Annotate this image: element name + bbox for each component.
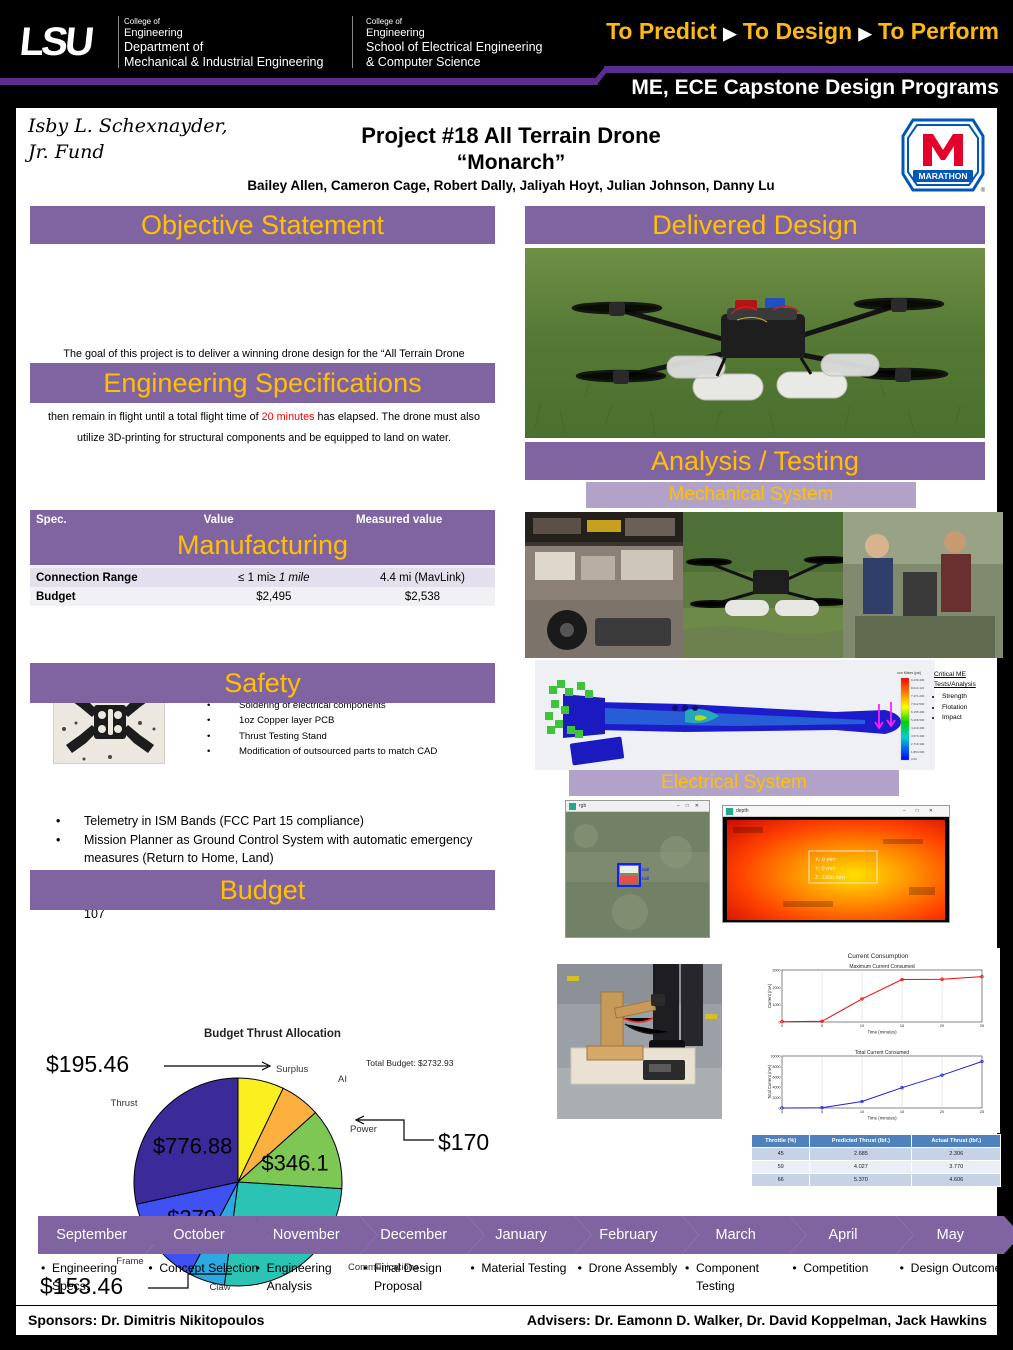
fea-analysis-image: von Mises (psi) 9,239.4008,214.121 7,471… [535,660,935,770]
subheader-electrical-system: Electrical System [569,770,899,796]
subheader-mechanical-system: Mechanical System [586,482,916,508]
svg-text:3,574.300: 3,574.300 [911,734,925,738]
table-cell: 66 [752,1174,810,1187]
pie-callout-ai: $170 [438,1129,489,1155]
critical-me-tests: Critical ME Tests/Analysis StrengthFlota… [934,670,1004,723]
column-header: Actual Thrust (lbf.) [912,1135,1001,1148]
timeline-month-label: May [937,1227,981,1243]
table-row: 594.0273.770 [752,1161,1001,1174]
dept2-line3: School of Electrical Engineering [366,40,543,55]
section-header-manufacturing: Manufacturing [30,525,495,565]
timeline-month-december: December [360,1216,484,1254]
spec-measured: $2,538 [350,587,495,606]
timeline-task-9: Design Outcome [911,1260,1010,1278]
timeline-task-1: Engineering Specs. [52,1260,151,1295]
author-list: Bailey Allen, Cameron Cage, Robert Dally… [166,178,856,193]
window-controls[interactable]: −□✕ [903,808,949,814]
critical-me-list: StrengthFlotationImpact [934,692,1004,723]
y-tick-label: 6000 [773,1075,781,1079]
table-cell: 2.685 [810,1148,912,1161]
tagline-design: To Design [743,18,852,44]
banner-rule-left [0,78,598,85]
table-cell: 5.370 [810,1174,912,1187]
svg-text:4,410.400: 4,410.400 [911,726,925,730]
y-tick-label: 2000 [773,986,781,990]
timeline-month-label: January [495,1227,564,1243]
list-item: Flotation [942,703,1004,713]
dept2-line4: & Computer Science [366,55,543,70]
mechanical-test-photos [525,512,1003,658]
capstone-title: ME, ECE Capstone Design Programs [631,76,999,100]
timeline-month-september: September [38,1216,162,1254]
svg-text:6,155.400: 6,155.400 [911,710,925,714]
x-tick-label: 5 [821,1024,823,1028]
table-cell: 59 [752,1161,810,1174]
x-tick-label: 20 [940,1110,944,1114]
pie-category-label-power: Power [350,1124,377,1135]
y-tick-label: 10000 [771,1055,781,1059]
project-nickname: “Monarch” [196,150,826,177]
delivered-design-photo [525,248,985,438]
y-axis-label: Current (mA) [767,983,772,1008]
timeline-task-8: Competition [803,1260,902,1278]
pie-category-label-claw: Claw [209,1282,230,1293]
footer-bar: Sponsors: Dr. Dimitris Nikitopoulos Advi… [16,1305,997,1335]
svg-text:ball: ball [642,867,649,872]
window-controls[interactable]: −□✕ [677,803,709,809]
x-tick-label: 15 [900,1024,904,1028]
logo-divider-2 [352,16,353,68]
timeline-month-label: February [599,1227,674,1243]
svg-text:7,012.500: 7,012.500 [911,702,925,706]
lsu-logo-text: LSU [18,22,93,62]
table-row: Budget$2,495$2,538 [30,587,495,606]
svg-text:8,214.121: 8,214.121 [911,686,925,690]
x-tick-label: 25 [980,1024,984,1028]
poster-body: Isby L. Schexnayder, Jr. Fund Project #1… [16,108,997,1305]
svg-text:®: ® [981,187,986,194]
marathon-logo: MARATHON ® [899,116,987,194]
project-title-line: Project #18 All Terrain Drone [196,122,826,150]
y-tick-label: 3000 [773,969,781,973]
y-axis-label: Total Current (mA) [767,1064,772,1099]
list-item: Impact [942,713,1004,723]
table-cell: 4.606 [912,1174,1001,1187]
svg-text:0.00: 0.00 [911,757,917,761]
table-row: 452.6852.306 [752,1148,1001,1161]
banner-rule-right [604,66,1013,73]
svg-text:von Mises (psi): von Mises (psi) [897,671,921,675]
list-item: Mission Planner as Ground Control System… [46,831,496,868]
x-tick-label: 0 [781,1110,783,1114]
x-tick-label: 10 [860,1110,864,1114]
table-row: 665.3704.606 [752,1174,1001,1187]
pie-callout-surplus: $195.46 [46,1051,129,1077]
dept-electrical-block: College of Engineering School of Electri… [366,17,543,71]
y-tick-label: 8000 [773,1065,781,1069]
svg-text:9,239.400: 9,239.400 [911,678,925,682]
timeline-month-label: April [828,1227,874,1243]
svg-text:1,854.000: 1,854.000 [911,750,925,754]
depth-camera-window[interactable]: depth −□✕ X: 0 mm Y: 0 mm Z: 1950 mm [722,805,950,923]
timeline-task-6: Drone Assembly [589,1260,688,1278]
rgb-camera-window[interactable]: rgb −□✕ ball ball [565,800,710,938]
svg-text:ball: ball [642,876,649,881]
spec-name: Connection Range [30,568,198,587]
chart-plot-area [782,1056,982,1108]
svg-text:MARATHON: MARATHON [919,171,968,181]
pie-category-label-surplus: Surplus [276,1064,308,1075]
table-header-row: Throttle (%)Predicted Thrust (lbf.)Actua… [752,1135,1001,1148]
y-tick-label: 2000 [773,1096,781,1100]
objective-fragment-9: 20 minutes [262,411,315,423]
callout-leader-line [164,1062,270,1070]
top-banner: LSU College of Engineering Department of… [0,0,1013,103]
dept2-line1: College of [366,17,543,27]
x-tick-label: 20 [940,1024,944,1028]
dept1-line1: College of [124,17,323,27]
pie-category-label-ai: AI [338,1074,347,1085]
timeline-task-2: Concept Selection [159,1260,258,1278]
list-item: 1oz Copper layer PCB [201,713,501,729]
dept1-line3: Department of [124,40,323,55]
section-header-specs: Engineering Specifications [30,363,495,403]
sponsors-text: Sponsors: Dr. Dimitris Nikitopoulos [28,1312,264,1328]
page-title: Project #18 All Terrain Drone “Monarch” [196,122,826,177]
critical-me-heading-2: Tests/Analysis [934,680,1004,690]
svg-text:5,296.500: 5,296.500 [911,718,925,722]
tagline: To Predict ▶ To Design ▶ To Perform [606,18,999,45]
y-tick-label: 1000 [773,1003,781,1007]
column-header: Throttle (%) [752,1135,810,1148]
timeline-month-february: February [575,1216,699,1254]
timeline-month-label: March [716,1227,773,1243]
svg-text:Y: 0 mm: Y: 0 mm [815,866,836,872]
pie-slice-label-power: $346.1 [261,1150,328,1175]
table-cell: 45 [752,1148,810,1161]
svg-text:X: 0 mm: X: 0 mm [815,857,836,863]
x-tick-label: 15 [900,1110,904,1114]
timeline-task-5: Material Testing [481,1260,580,1278]
critical-me-heading-1: Critical ME [934,670,1004,680]
chart-subtitle: Maximum Current Consumed [849,964,915,970]
dept2-line2: Engineering [366,27,543,40]
window-app-icon [569,803,576,810]
chart-plot-area [782,970,982,1022]
x-tick-label: 0 [781,1024,783,1028]
logo-divider [118,16,119,68]
svg-text:7,471.200: 7,471.200 [911,694,925,698]
triangle-icon: ▶ [859,24,872,43]
section-header-budget: Budget [30,870,495,910]
lsu-logo: LSU [20,22,110,62]
thrust-results-table: Throttle (%)Predicted Thrust (lbf.)Actua… [751,1134,1001,1187]
x-tick-label: 25 [980,1110,984,1114]
svg-text:2,716.300: 2,716.300 [911,742,925,746]
section-header-delivered-design: Delivered Design [525,206,985,244]
spec-value: $2,495 [198,587,350,606]
window-app-icon [726,808,733,815]
table-cell: 4.027 [810,1161,912,1174]
timeline-month-may: May [897,1216,1013,1254]
timeline-task-3: Engineering Analysis [267,1260,366,1295]
list-item: Modification of outsourced parts to matc… [201,744,501,760]
section-header-safety: Safety [30,663,495,703]
thrust-stand-photo [557,964,722,1119]
spec-name: Budget [30,587,198,606]
x-tick-label: 5 [821,1110,823,1114]
tagline-predict: To Predict [606,18,717,44]
table-cell: 2.306 [912,1148,1001,1161]
table-row: Connection Range≤ 1 mi≥ 1 mile4.4 mi (Ma… [30,568,495,587]
x-tick-label: 10 [860,1024,864,1028]
spec-measured: 4.4 mi (MavLink) [350,568,495,587]
x-axis-label: Time (minutes) [867,1116,897,1121]
dept1-line4: Mechanical & Industrial Engineering [124,55,323,70]
list-item: Telemetry in ISM Bands (FCC Part 15 comp… [46,812,496,831]
section-header-objective: Objective Statement [30,206,495,244]
y-tick-label: 4000 [773,1086,781,1090]
x-axis-label: Time (minutes) [867,1030,897,1035]
timeline-month-label: November [273,1227,357,1243]
list-item: Strength [942,692,1004,702]
table-cell: 3.770 [912,1161,1001,1174]
timeline-month-label: December [380,1227,464,1243]
dept1-line2: Engineering [124,27,323,40]
timeline-month-april: April [789,1216,913,1254]
current-consumption-charts: Current Consumption010002000300005101520… [738,948,1000,1133]
pie-category-label-thrust: Thrust [111,1098,138,1109]
depth-window-title: depth [736,808,749,814]
section-header-analysis: Analysis / Testing [525,442,985,480]
project-timeline: SeptemberOctoberNovemberDecemberJanuaryF… [38,1216,1004,1254]
dept-mechanical-block: College of Engineering Department of Mec… [124,17,323,71]
svg-text:Z: 1950 mm: Z: 1950 mm [815,875,845,881]
chart-subtitle: Total Current Consumed [855,1050,909,1056]
timeline-month-label: September [56,1227,144,1243]
timeline-month-march: March [682,1216,806,1254]
column-header: Predicted Thrust (lbf.) [810,1135,912,1148]
timeline-month-january: January [467,1216,591,1254]
tagline-perform: To Perform [878,18,999,44]
timeline-month-october: October [145,1216,269,1254]
current-consumption-title: Current Consumption [848,953,909,960]
timeline-task-4: Final Design Proposal [374,1260,473,1295]
rgb-window-title: rgb [579,803,586,809]
list-item: Thrust Testing Stand [201,729,501,745]
triangle-icon: ▶ [723,24,736,43]
timeline-month-november: November [253,1216,377,1254]
timeline-month-label: October [173,1227,242,1243]
advisers-text: Advisers: Dr. Eamonn D. Walker, Dr. Davi… [527,1312,987,1328]
timeline-task-7: Component Testing [696,1260,795,1295]
pie-slice-label-thrust: $776.88 [153,1133,233,1158]
spec-value: ≤ 1 mi≥ 1 mile [198,568,350,587]
